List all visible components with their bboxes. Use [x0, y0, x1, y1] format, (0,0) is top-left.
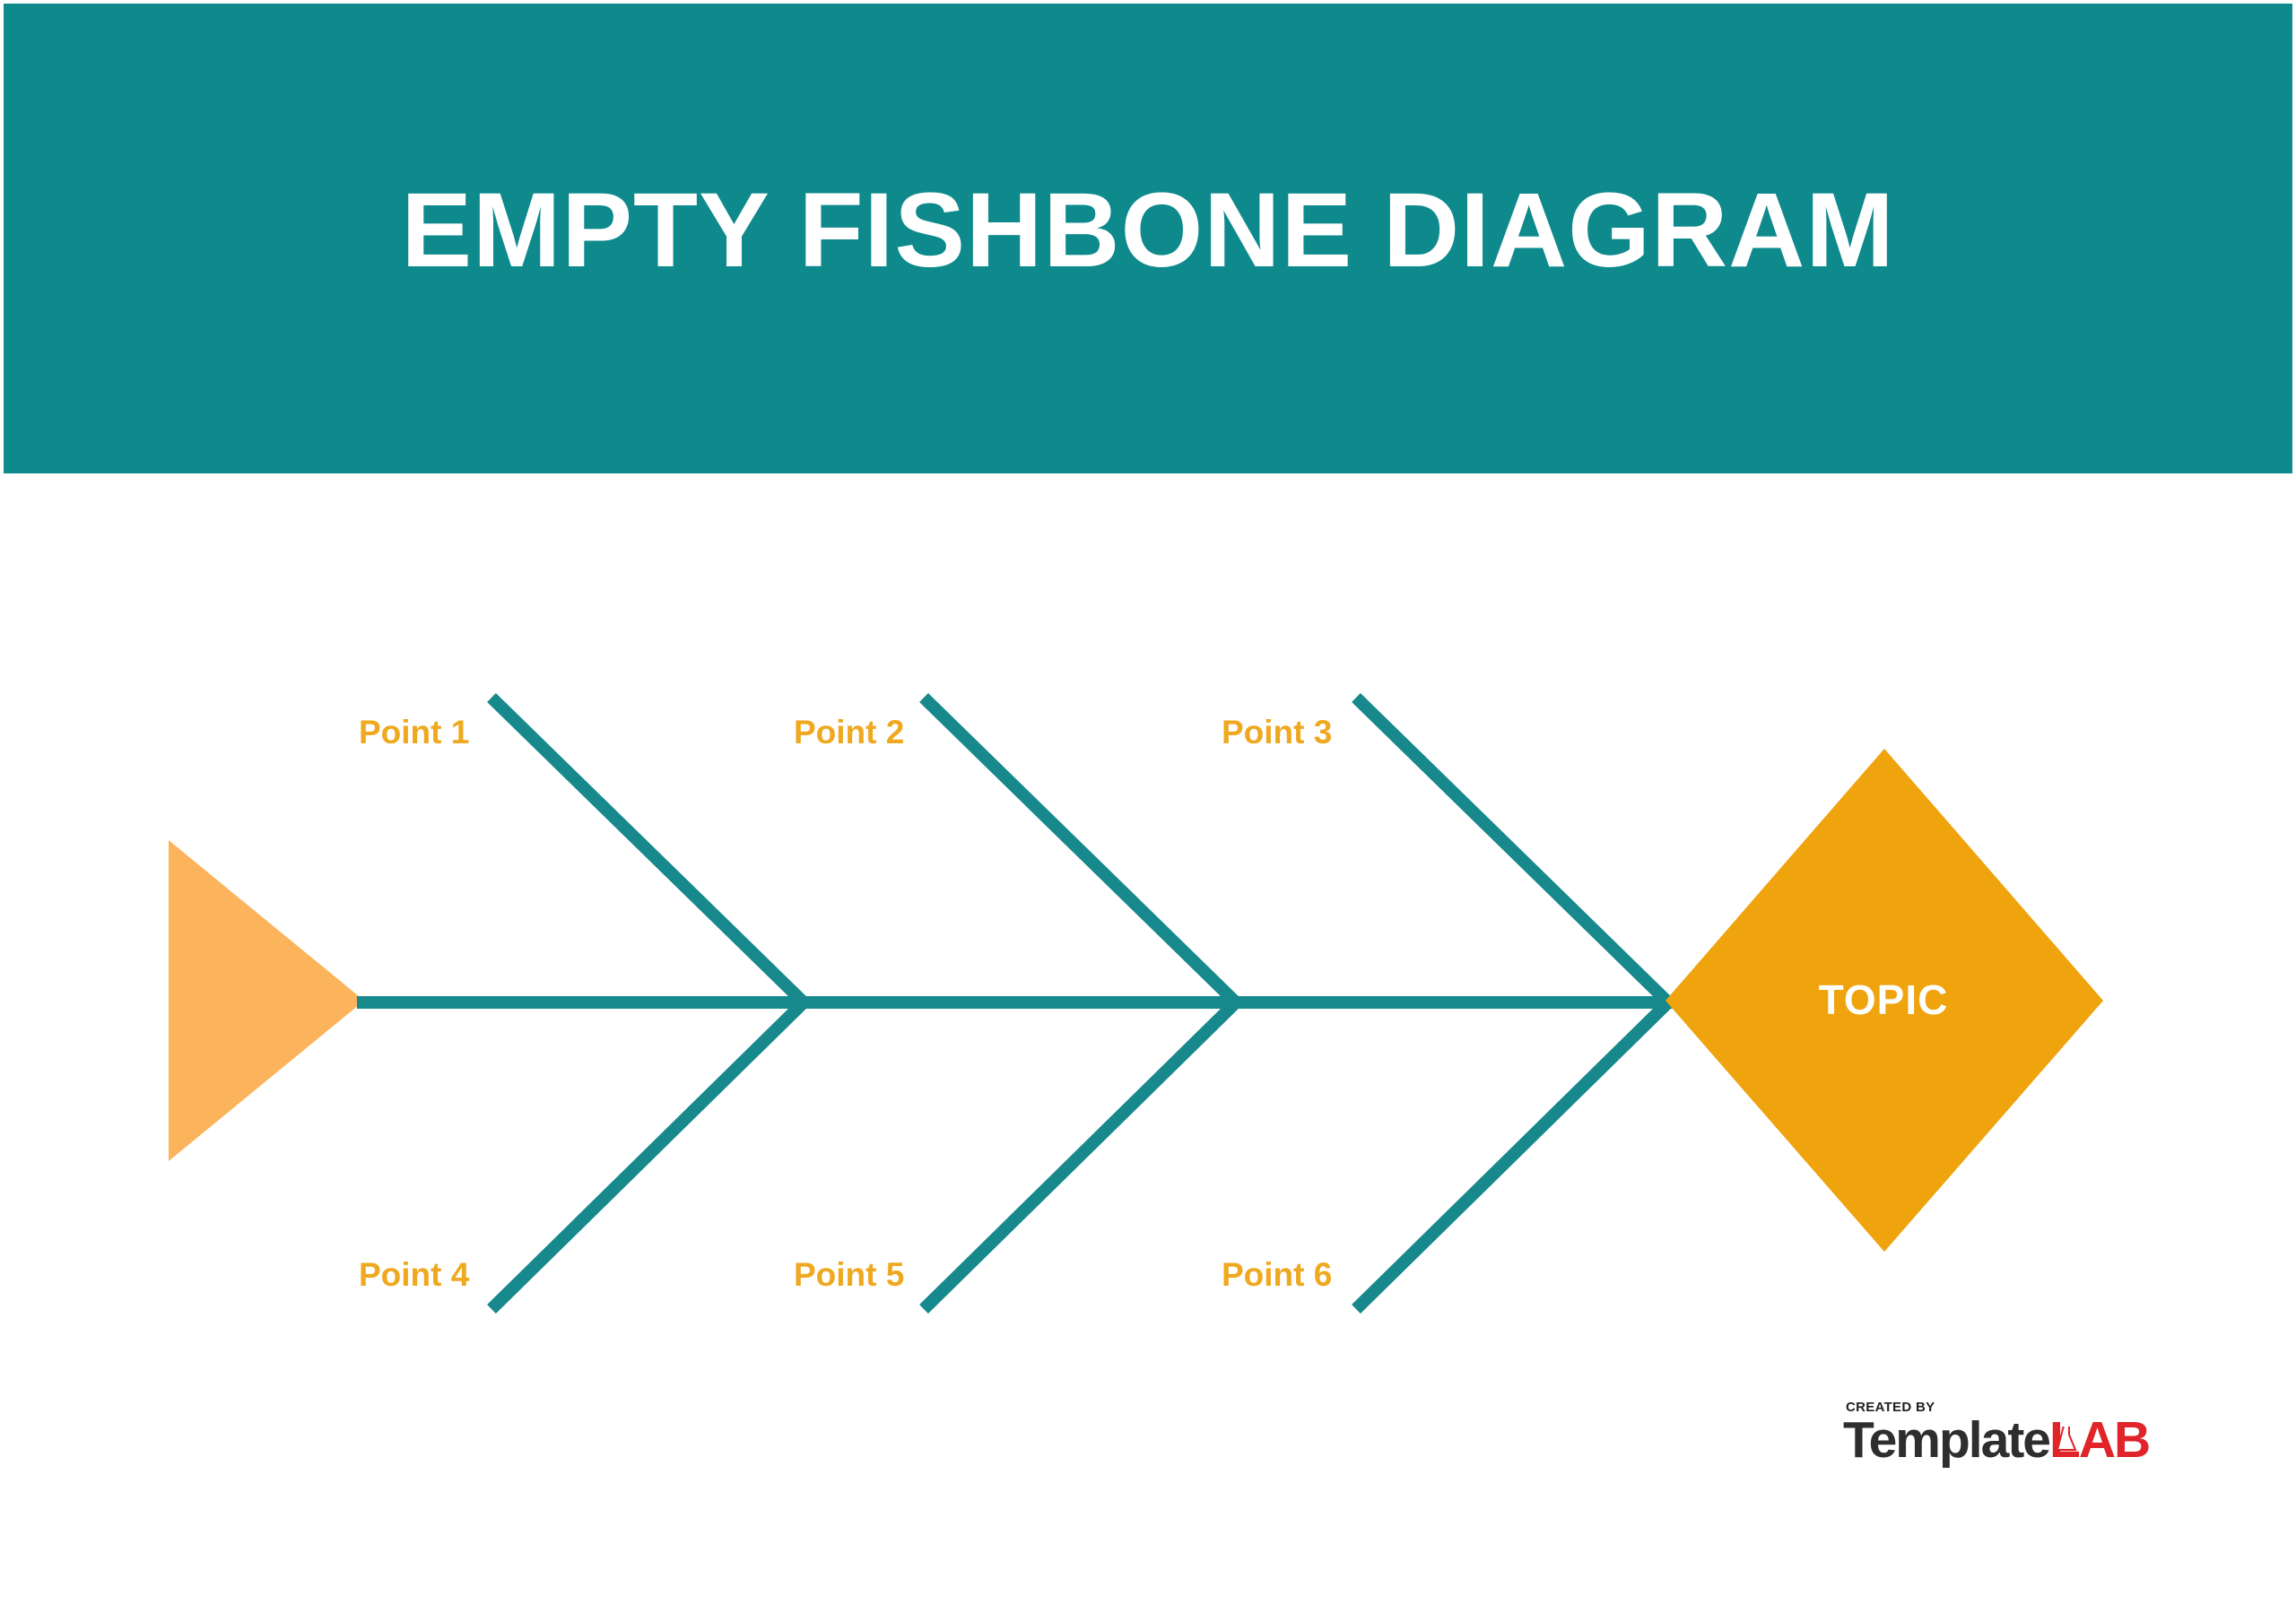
point-label-5: Point 5 [794, 1258, 904, 1291]
fishbone-diagram-page: EMPTY FISHBONE DIAGRAM Point 1 Point 2 P… [0, 0, 2296, 1622]
bone-lower-5 [924, 1002, 1236, 1309]
brand-lab-a: A [2079, 1411, 2114, 1469]
point-label-6: Point 6 [1222, 1258, 1332, 1291]
point-label-4: Point 4 [359, 1258, 469, 1291]
fish-tail-triangle [169, 840, 364, 1161]
point-label-3: Point 3 [1222, 716, 1332, 749]
topic-label: TOPIC [1744, 979, 2022, 1020]
brand-wordmark: TemplateLAB [1843, 1415, 2149, 1466]
templatelab-logo: CREATED BY TemplateLAB [1843, 1401, 2152, 1478]
bone-upper-1 [491, 698, 804, 1002]
bone-upper-3 [1356, 698, 1668, 1002]
point-label-1: Point 1 [359, 716, 469, 749]
flask-icon [2055, 1424, 2078, 1454]
brand-lab-b: B [2114, 1411, 2149, 1469]
bone-upper-2 [924, 698, 1236, 1002]
brand-template-text: Template [1843, 1411, 2049, 1469]
fishbone-diagram-canvas [0, 0, 2296, 1622]
bone-lower-4 [491, 1002, 804, 1309]
bone-lower-6 [1356, 1002, 1668, 1309]
point-label-2: Point 2 [794, 716, 904, 749]
